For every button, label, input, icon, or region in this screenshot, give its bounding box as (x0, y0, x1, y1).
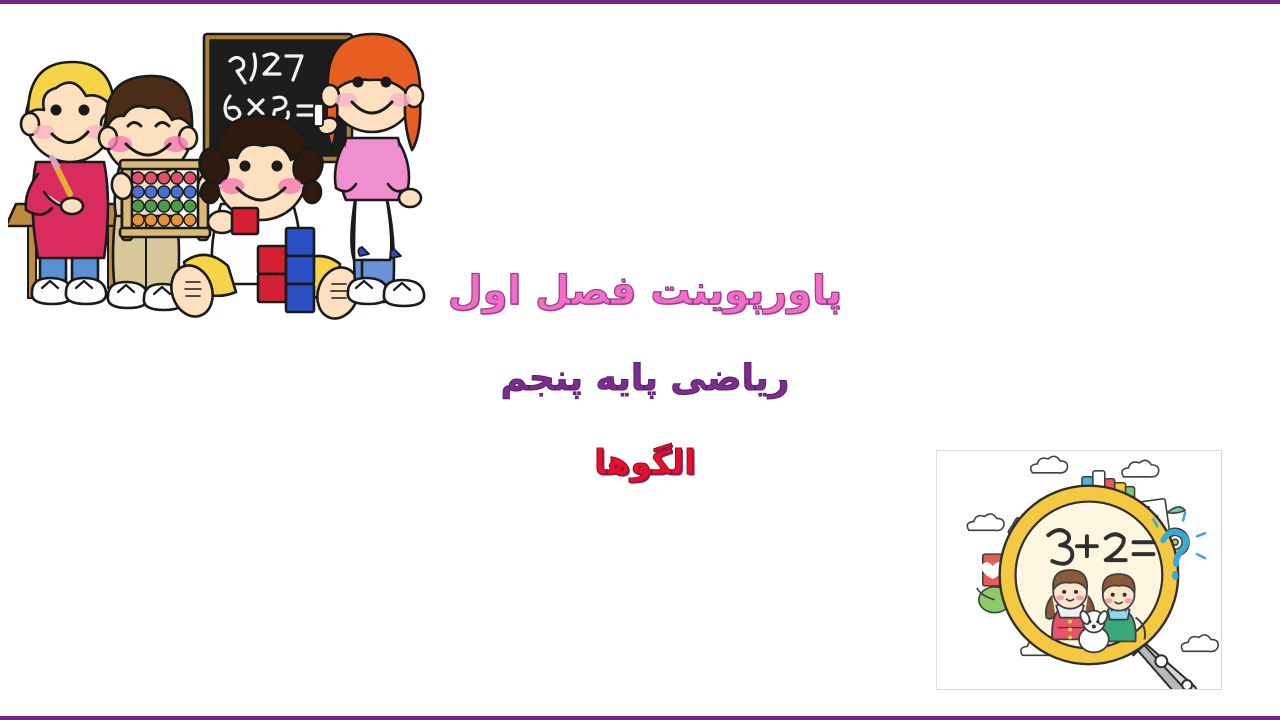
slide-title-block: پاورپوینت فصل اول ریاضی پایه پنجم الگوها (430, 270, 860, 481)
magnifier-math-clipart-illustration (936, 450, 1222, 690)
dog (1078, 610, 1109, 653)
title-line-math-grade-five: ریاضی پایه پنجم (430, 360, 860, 398)
top-accent-bar (0, 0, 1280, 4)
title-line-powerpoint-chapter-one: پاورپوینت فصل اول (430, 270, 860, 312)
bottom-accent-bar (0, 716, 1280, 720)
classroom-clipart-illustration (8, 14, 458, 326)
title-line-patterns: الگوها (430, 446, 860, 482)
presentation-slide: پاورپوینت فصل اول ریاضی پایه پنجم الگوها (0, 0, 1280, 720)
